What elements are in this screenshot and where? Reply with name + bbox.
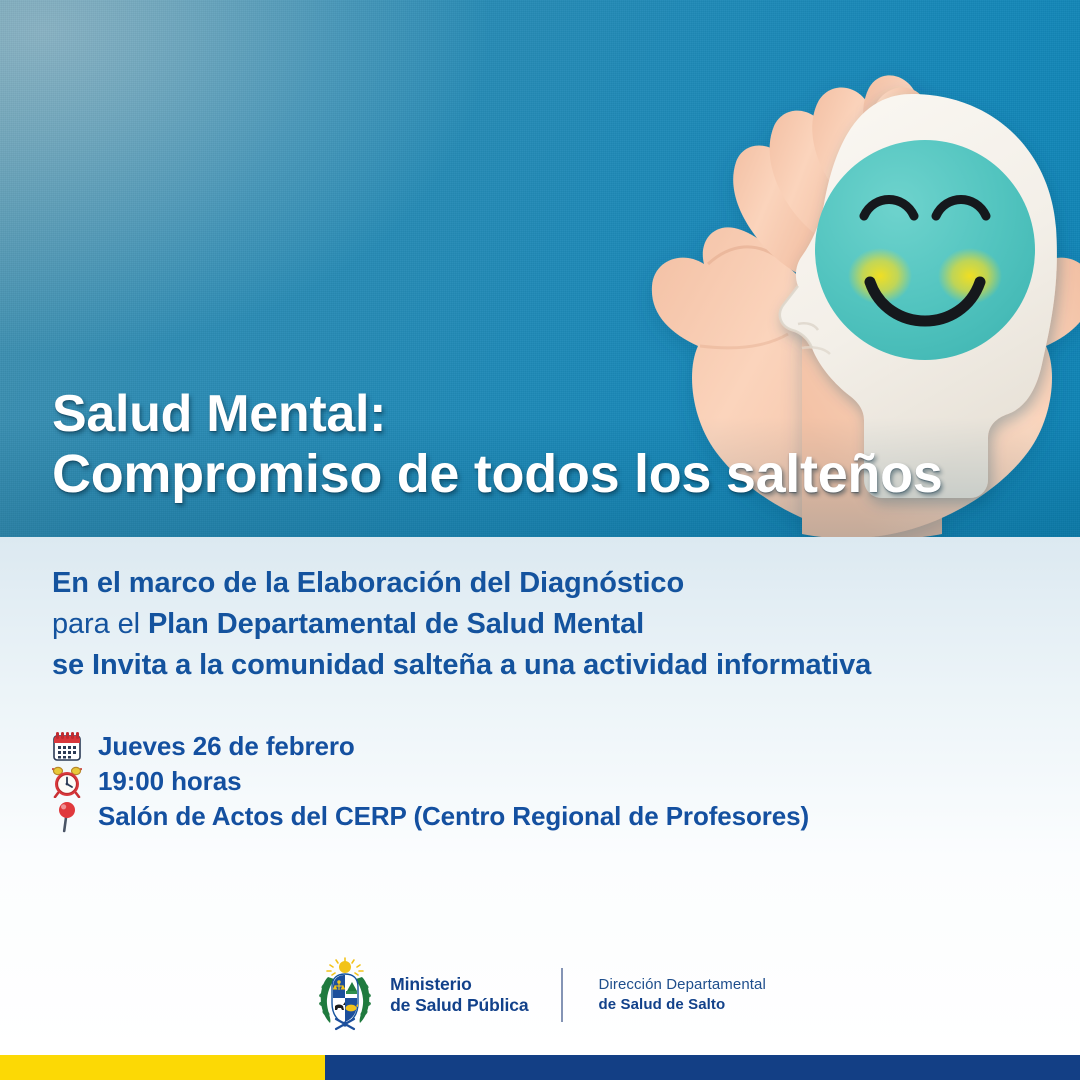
detail-row-location: Salón de Actos del CERP (Centro Regional… [52, 799, 1052, 834]
title-line-1: Salud Mental: [52, 384, 1052, 444]
lede-paragraph: En el marco de la Elaboración del Diagnó… [52, 567, 1052, 682]
detail-text-time: 19:00 horas [98, 764, 241, 799]
title-line-2: Compromiso de todos los salteños [52, 444, 1052, 504]
poster-title: Salud Mental: Compromiso de todos los sa… [52, 384, 1052, 504]
ministry-line-1: Ministerio [390, 974, 528, 995]
footer-logo-block: Ministerio de Salud Pública Dirección De… [0, 945, 1080, 1045]
direction-line-1: Dirección Departamental [599, 975, 766, 995]
detail-text-location: Salón de Actos del CERP (Centro Regional… [98, 799, 809, 834]
lede-line-2-prefix: para el [52, 608, 148, 640]
lede-line-1: En el marco de la Elaboración del Diagnó… [52, 567, 1052, 600]
lede-line-2: para el Plan Departamental de Salud Ment… [52, 608, 1052, 641]
detail-text-date: Jueves 26 de febrero [98, 729, 355, 764]
ministry-line-2: de Salud Pública [390, 995, 528, 1016]
map-pin-icon [52, 801, 98, 833]
smiley-face-icon [815, 140, 1035, 360]
lede-line-2-bold: Plan Departamental de Salud Mental [148, 608, 644, 640]
logo-divider [561, 968, 563, 1022]
lede-line-3: se Invita a la comunidad salteña a una a… [52, 649, 1052, 682]
calendar-icon [52, 731, 98, 763]
ministry-label: Ministerio de Salud Pública [390, 974, 528, 1016]
detail-row-time: 19:00 horas [52, 764, 1052, 799]
bottom-bar-blue-segment [325, 1055, 1080, 1080]
direction-line-2: de Salud de Salto [599, 995, 766, 1015]
alarm-clock-icon [52, 766, 98, 798]
detail-row-date: Jueves 26 de febrero [52, 729, 1052, 764]
direction-label: Dirección Departamental de Salud de Salt… [599, 975, 766, 1015]
bottom-bar-yellow-segment [0, 1055, 325, 1080]
bottom-color-bar [0, 1055, 1080, 1080]
event-details-list: Jueves 26 de febrero 19:00 [52, 729, 1052, 834]
logo-row: Ministerio de Salud Pública Dirección De… [314, 957, 766, 1033]
poster-canvas: Salud Mental: Compromiso de todos los sa… [0, 0, 1080, 1080]
uruguay-coat-of-arms-icon [314, 957, 376, 1033]
